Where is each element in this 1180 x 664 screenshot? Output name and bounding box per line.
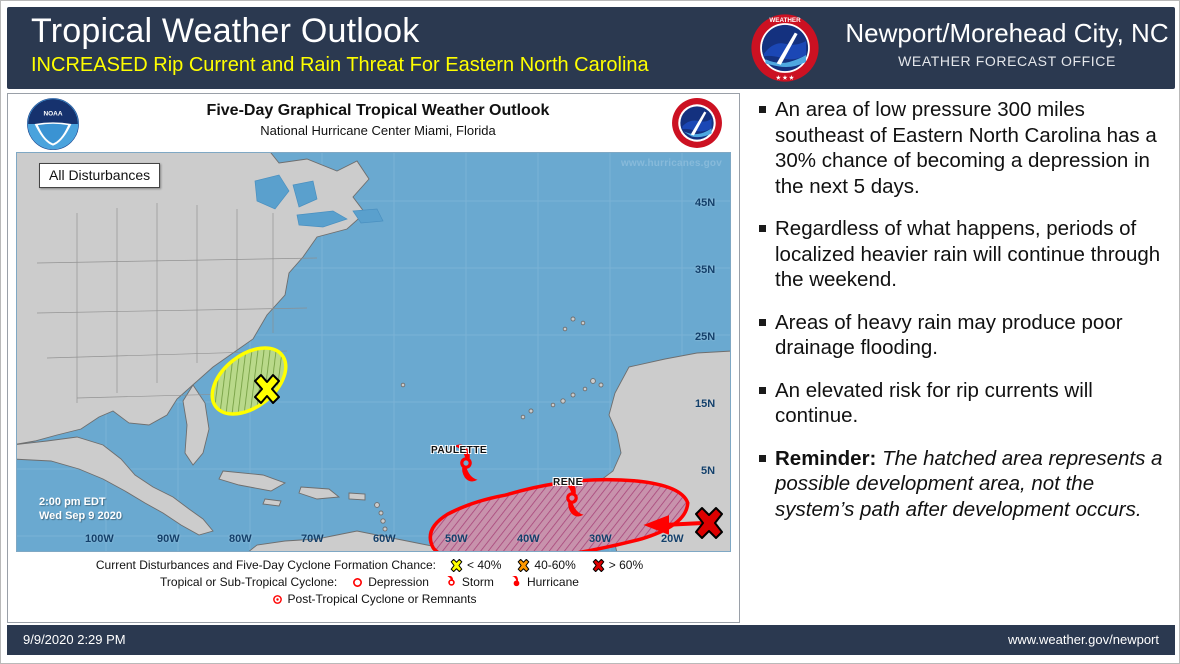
legend-label-40-60: 40-60% bbox=[534, 557, 575, 574]
slide-root: Tropical Weather Outlook INCREASED Rip C… bbox=[0, 0, 1180, 664]
briefing-bullets-panel: An area of low pressure 300 miles southe… bbox=[749, 93, 1175, 623]
bullet-text: An area of low pressure 300 miles southe… bbox=[775, 97, 1165, 199]
lon-label-80w: 80W bbox=[229, 533, 252, 545]
header-office-block: WEATHER ★ ★ ★ Newport/Morehead City, NC … bbox=[742, 7, 1172, 89]
lon-label-20w: 20W bbox=[661, 533, 684, 545]
footer-website-link[interactable]: www.weather.gov/newport bbox=[1008, 632, 1159, 647]
wfo-text-block: Newport/Morehead City, NC WEATHER FORECA… bbox=[842, 17, 1172, 71]
lon-label-30w: 30W bbox=[589, 533, 612, 545]
depression-icon bbox=[351, 576, 364, 589]
legend-label-storm: Storm bbox=[462, 574, 494, 591]
bullet-text-reminder: Reminder: The hatched area represents a … bbox=[775, 446, 1165, 523]
storm-label-rene: RENE bbox=[553, 477, 583, 488]
legend-row-cyclone-type: Tropical or Sub-Tropical Cyclone: Depres… bbox=[16, 574, 731, 591]
map-timestamp: 2:00 pm EDT Wed Sep 9 2020 bbox=[39, 495, 122, 523]
legend-item-depression: Depression bbox=[351, 574, 429, 591]
lat-label-35n: 35N bbox=[695, 264, 715, 276]
lon-label-50w: 50W bbox=[445, 533, 468, 545]
bullet-text: Areas of heavy rain may produce poor dra… bbox=[775, 310, 1165, 361]
legend-label-gt60: > 60% bbox=[609, 557, 643, 574]
lat-label-45n: 45N bbox=[695, 197, 715, 209]
legend-row-post-tropical: Post-Tropical Cyclone or Remnants bbox=[16, 591, 731, 608]
legend-row-formation-chance: Current Disturbances and Five-Day Cyclon… bbox=[16, 557, 731, 574]
noaa-logo-icon: NOAA bbox=[26, 97, 80, 151]
page-subtitle: INCREASED Rip Current and Rain Threat Fo… bbox=[31, 52, 731, 78]
bullet-text: Regardless of what happens, periods of l… bbox=[775, 216, 1165, 293]
map-time: 2:00 pm EDT bbox=[39, 495, 122, 509]
nhc-subtitle: National Hurricane Center Miami, Florida bbox=[128, 123, 628, 138]
tropical-outlook-map[interactable]: www.hurricanes.gov All Disturbances PAUL… bbox=[16, 152, 731, 552]
legend-label-lt40: < 40% bbox=[467, 557, 501, 574]
lon-label-70w: 70W bbox=[301, 533, 324, 545]
page-title: Tropical Weather Outlook bbox=[31, 11, 731, 51]
lon-label-60w: 60W bbox=[373, 533, 396, 545]
bullet-text: An elevated risk for rip currents will c… bbox=[775, 378, 1165, 429]
nhc-header: NOAA Five-Day Graphical Tropical Weather… bbox=[8, 94, 739, 152]
bullet-item-reminder: Reminder: The hatched area represents a … bbox=[755, 446, 1165, 523]
legend-item-storm: Storm bbox=[445, 574, 494, 591]
bullet-item: Regardless of what happens, periods of l… bbox=[755, 216, 1165, 293]
svg-text:WEATHER: WEATHER bbox=[769, 17, 801, 24]
bullet-square-icon bbox=[759, 455, 766, 462]
lat-label-25n: 25N bbox=[695, 331, 715, 343]
lon-label-100w: 100W bbox=[85, 533, 114, 545]
map-date: Wed Sep 9 2020 bbox=[39, 509, 122, 523]
legend-item-40-60: 40-60% bbox=[517, 557, 575, 574]
all-disturbances-filter[interactable]: All Disturbances bbox=[39, 163, 160, 188]
legend-formation-label: Current Disturbances and Five-Day Cyclon… bbox=[96, 557, 436, 574]
bullet-square-icon bbox=[759, 225, 766, 232]
lat-label-15n: 15N bbox=[695, 398, 715, 410]
hurricane-icon bbox=[510, 576, 523, 589]
legend-label-post-tropical: Post-Tropical Cyclone or Remnants bbox=[288, 591, 477, 608]
bullet-item: Areas of heavy rain may produce poor dra… bbox=[755, 310, 1165, 361]
reminder-lead: Reminder: bbox=[775, 447, 876, 470]
legend-label-hurricane: Hurricane bbox=[527, 574, 579, 591]
legend-label-depression: Depression bbox=[368, 574, 429, 591]
nws-seal-small-icon bbox=[671, 97, 723, 149]
nhc-graphic-panel: NOAA Five-Day Graphical Tropical Weather… bbox=[7, 93, 740, 623]
lat-label-5n: 5N bbox=[701, 465, 715, 477]
legend-cyclone-label: Tropical or Sub-Tropical Cyclone: bbox=[160, 574, 337, 591]
bullet-item: An area of low pressure 300 miles southe… bbox=[755, 97, 1165, 199]
lon-label-90w: 90W bbox=[157, 533, 180, 545]
x-mark-yellow-icon bbox=[450, 559, 463, 572]
x-mark-orange-icon bbox=[517, 559, 530, 572]
storm-label-paulette: PAULETTE bbox=[431, 445, 487, 456]
x-mark-red-icon bbox=[592, 559, 605, 572]
lon-label-40w: 40W bbox=[517, 533, 540, 545]
nws-seal-icon: WEATHER ★ ★ ★ bbox=[750, 13, 820, 83]
bullet-item: An elevated risk for rip currents will c… bbox=[755, 378, 1165, 429]
legend-item-post-tropical: Post-Tropical Cyclone or Remnants bbox=[271, 591, 477, 608]
map-canvas bbox=[17, 153, 731, 552]
bullet-square-icon bbox=[759, 319, 766, 326]
legend-item-hurricane: Hurricane bbox=[510, 574, 579, 591]
wfo-office-label: WEATHER FORECAST OFFICE bbox=[842, 51, 1172, 71]
legend-item-gt60: > 60% bbox=[592, 557, 643, 574]
footer-bar: 9/9/2020 2:29 PM www.weather.gov/newport bbox=[7, 625, 1175, 655]
header-bar: Tropical Weather Outlook INCREASED Rip C… bbox=[7, 7, 1175, 89]
bullet-square-icon bbox=[759, 106, 766, 113]
bullet-square-icon bbox=[759, 387, 766, 394]
wfo-city-label: Newport/Morehead City, NC bbox=[842, 17, 1172, 49]
header-title-block: Tropical Weather Outlook INCREASED Rip C… bbox=[31, 11, 731, 78]
hurricanes-gov-watermark: www.hurricanes.gov bbox=[621, 158, 722, 169]
svg-text:★ ★ ★: ★ ★ ★ bbox=[776, 75, 795, 82]
map-legend: Current Disturbances and Five-Day Cyclon… bbox=[16, 557, 731, 608]
nhc-title: Five-Day Graphical Tropical Weather Outl… bbox=[128, 102, 628, 120]
post-tropical-icon bbox=[271, 593, 284, 606]
svg-text:NOAA: NOAA bbox=[43, 110, 62, 117]
footer-timestamp: 9/9/2020 2:29 PM bbox=[23, 632, 126, 647]
storm-icon bbox=[445, 576, 458, 589]
legend-item-lt40: < 40% bbox=[450, 557, 501, 574]
